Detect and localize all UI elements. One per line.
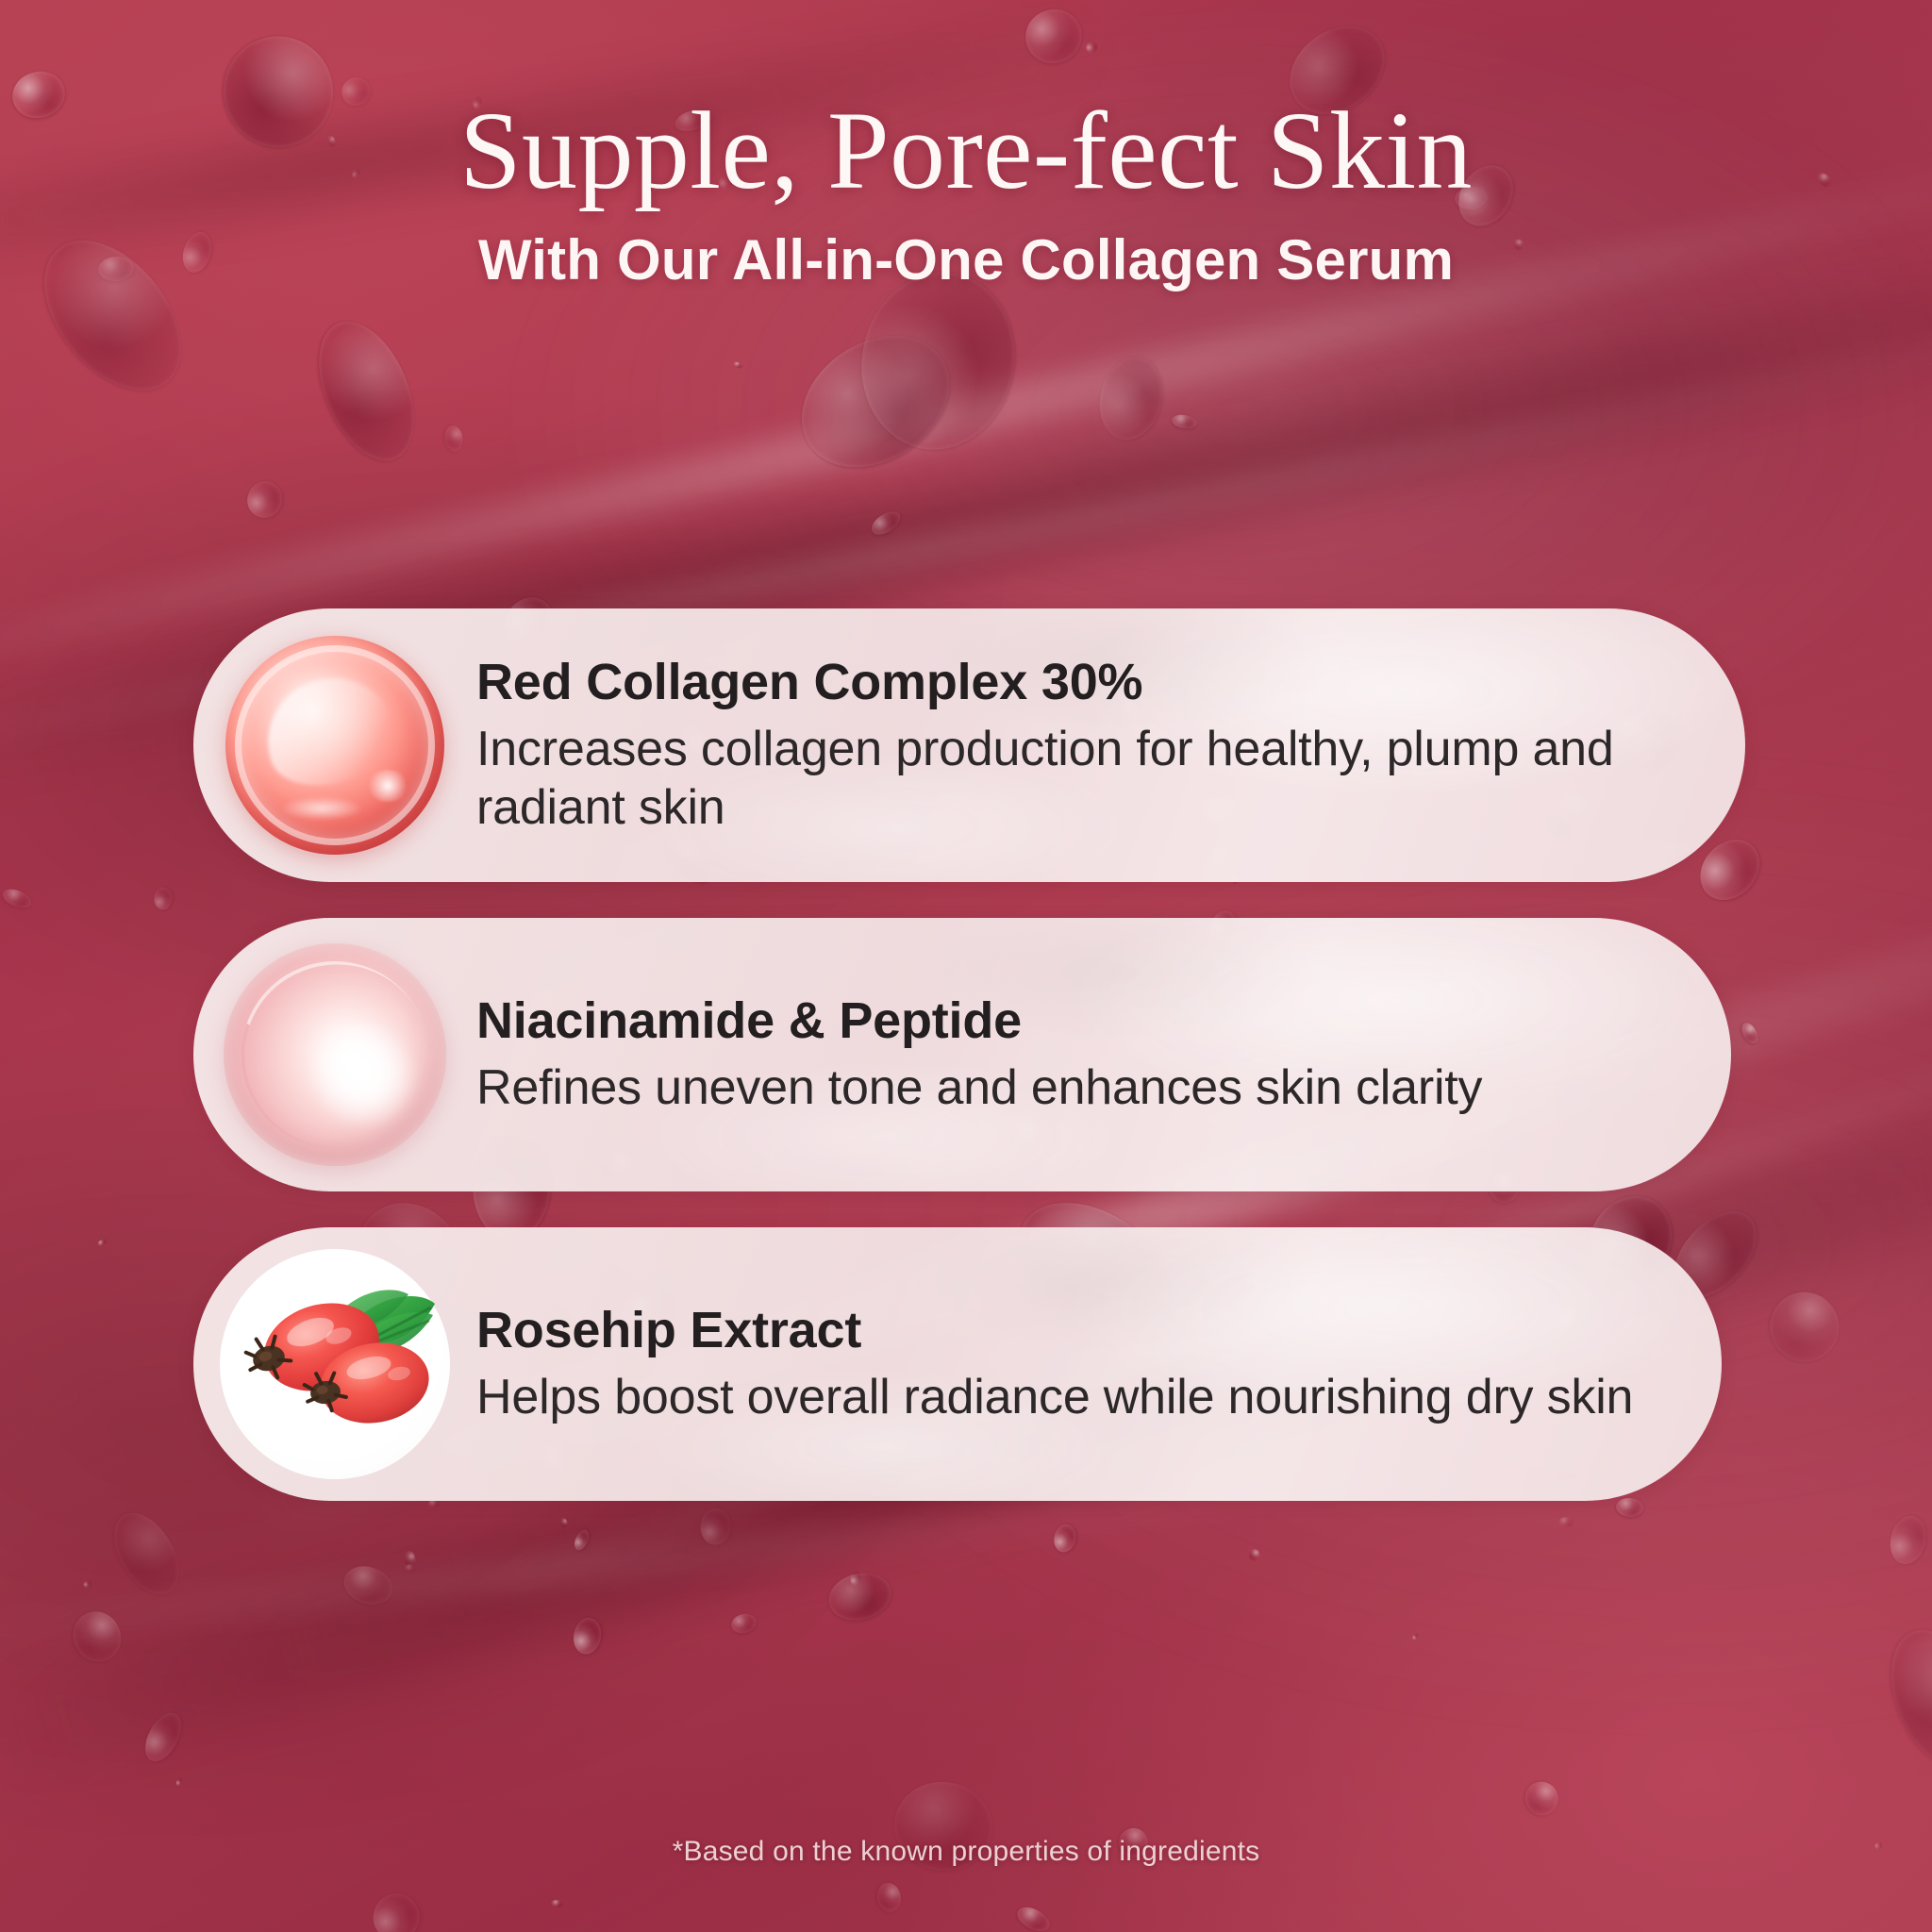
card-text-block: Rosehip Extract Helps boost overall radi… [476,1301,1722,1426]
card-icon-slot [193,608,476,882]
card-body: Helps boost overall radiance while nouri… [476,1368,1656,1426]
rosehip-berries-icon [220,1249,450,1479]
footnote-disclaimer: *Based on the known properties of ingred… [0,1836,1932,1868]
ingredient-card[interactable]: Niacinamide & Peptide Refines uneven ton… [193,918,1731,1191]
card-text-block: Red Collagen Complex 30% Increases colla… [476,653,1745,837]
card-heading: Red Collagen Complex 30% [476,653,1679,712]
card-icon-slot [193,918,476,1191]
pearl-glow [312,1024,415,1126]
serum-droplet-icon [225,636,444,855]
ingredient-card[interactable]: Red Collagen Complex 30% Increases colla… [193,608,1745,882]
product-infographic-poster: Supple, Pore-fect Skin With Our All-in-O… [0,0,1932,1932]
card-icon-slot [193,1227,476,1501]
serum-droplet-glint [366,770,409,802]
rosehip-berries-svg [220,1249,450,1479]
card-heading: Niacinamide & Peptide [476,991,1665,1051]
serum-droplet-glint [282,797,361,820]
pearl-sphere-icon [224,943,446,1166]
page-subtitle: With Our All-in-One Collagen Serum [0,226,1932,294]
card-text-block: Niacinamide & Peptide Refines uneven ton… [476,991,1731,1117]
card-body: Increases collagen production for health… [476,720,1679,838]
card-body: Refines uneven tone and enhances skin cl… [476,1058,1665,1117]
page-title: Supple, Pore-fect Skin [0,91,1932,210]
card-heading: Rosehip Extract [476,1301,1656,1360]
poster-content: Supple, Pore-fect Skin With Our All-in-O… [0,0,1932,1932]
ingredient-card[interactable]: Rosehip Extract Helps boost overall radi… [193,1227,1722,1501]
ingredient-card-list: Red Collagen Complex 30% Increases colla… [193,608,1745,1501]
